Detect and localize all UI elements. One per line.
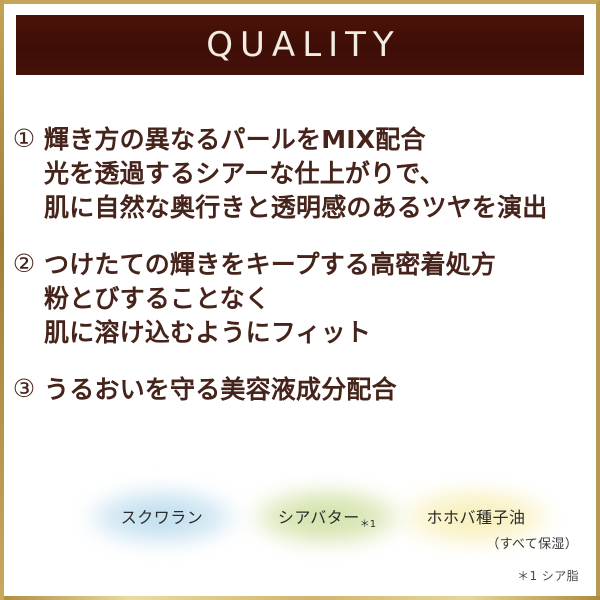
footnote-text: ＊1 シア脂 [517,567,579,584]
feature-line: 粉とびすることなく [44,282,596,316]
feature-line: 光を透過するシアーな仕上がりで、 [44,157,596,191]
header-bar: QUALITY [16,15,584,75]
feature-line: うるおいを守る美容液成分配合 [44,373,596,407]
feature-text-1: 輝き方の異なるパールをMIX配合 光を透過するシアーな仕上がりで、 肌に自然な奥… [44,122,596,225]
ingredient-name: スクワラン [121,508,204,527]
page-title: QUALITY [199,28,400,62]
all-moisturizing-note: （すべて保湿） [486,533,578,552]
feature-line: 肌に溶け込むようにフィット [44,316,596,350]
ingredient-name: シアバター [278,508,360,527]
feature-item-1: ① 輝き方の異なるパールをMIX配合 光を透過するシアーな仕上がりで、 肌に自然… [4,122,596,225]
feature-item-3: ③ うるおいを守る美容液成分配合 [4,372,596,407]
ingredient-label: スクワラン [121,504,204,530]
ingredient-bubble-squalane: スクワラン [82,486,242,548]
feature-line: 輝き方の異なるパールをMIX配合 [44,123,596,157]
feature-line: 肌に自然な奥行きと透明感のあるツヤを演出 [44,191,596,225]
feature-number-3: ③ [4,372,44,406]
poster-inner: QUALITY ① 輝き方の異なるパールをMIX配合 光を透過するシアーな仕上が… [4,4,596,596]
feature-text-3: うるおいを守る美容液成分配合 [44,372,596,407]
feature-number-2: ② [4,247,44,281]
feature-list: ① 輝き方の異なるパールをMIX配合 光を透過するシアーな仕上がりで、 肌に自然… [4,122,596,429]
poster-frame: QUALITY ① 輝き方の異なるパールをMIX配合 光を透過するシアーな仕上が… [0,0,600,600]
ingredient-label: ホホバ種子油 [426,504,525,530]
feature-text-2: つけたての輝きをキープする高密着処方 粉とびすることなく 肌に溶け込むようにフィ… [44,247,596,350]
feature-line: つけたての輝きをキープする高密着処方 [44,248,596,282]
ingredient-label: シアバター＊1 [278,504,376,530]
ingredient-marker: ＊1 [360,519,376,530]
feature-item-2: ② つけたての輝きをキープする高密着処方 粉とびすることなく 肌に溶け込むように… [4,247,596,350]
ingredient-bubble-shea-butter: シアバター＊1 [247,486,407,548]
feature-number-1: ① [4,122,44,156]
ingredient-name: ホホバ種子油 [426,508,525,527]
